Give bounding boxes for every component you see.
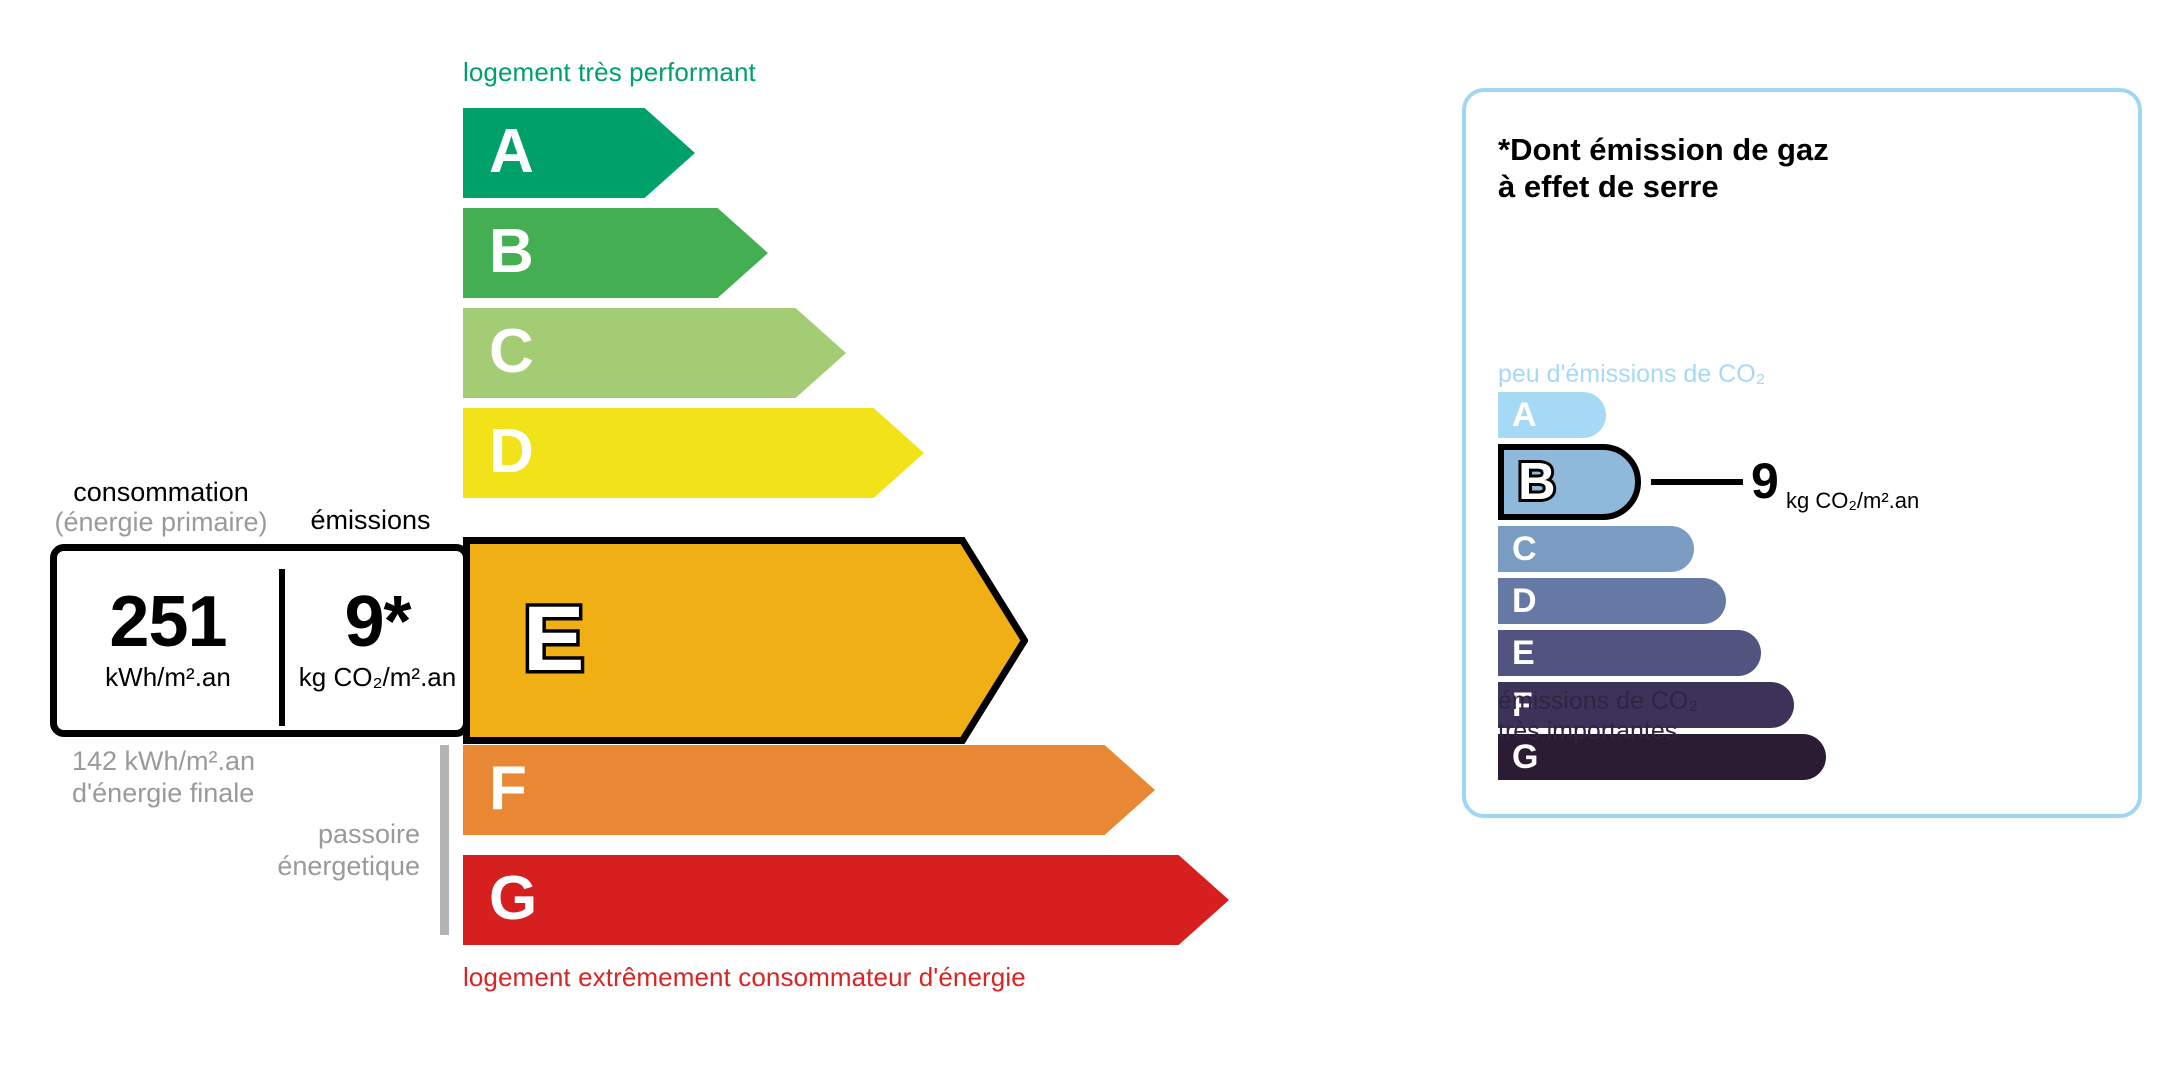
energy-class-c: C <box>463 308 846 398</box>
emission-value: 9* <box>344 588 410 656</box>
final-energy-line2: d'énergie finale <box>72 777 372 809</box>
energy-arrow-shape: B <box>463 208 768 298</box>
final-energy-line1: 142 kWh/m².an <box>72 745 372 777</box>
co2-class-letter: A <box>1512 398 1537 432</box>
energy-arrow-shape: F <box>463 745 1155 835</box>
energy-class-letter: D <box>489 421 534 483</box>
co2-bar-shape: B <box>1498 444 1641 520</box>
energy-bottom-caption: logement extrêmement consommateur d'éner… <box>463 962 1026 993</box>
energy-class-e: E <box>463 537 1028 744</box>
co2-bottom-caption: émissions de CO₂ très importantes <box>1498 686 1698 746</box>
passoire-line2: énergetique <box>250 850 420 882</box>
energy-class-f: F <box>463 745 1155 835</box>
co2-bar-shape: E <box>1498 630 1761 676</box>
energy-arrow-shape: E <box>463 537 1028 744</box>
emission-unit: kg CO₂/m².an <box>299 662 456 693</box>
energy-performance-panel: logement très performant ABCDEFG consomm… <box>0 0 1380 1079</box>
co2-bottom-line2: très importantes <box>1498 716 1698 746</box>
consumption-header: consommation (énergie primaire) <box>50 477 272 537</box>
passoire-energetique-note: passoire énergetique <box>250 818 420 883</box>
energy-arrow-shape: D <box>463 408 924 498</box>
co2-title-line1: *Dont émission de gaz <box>1498 132 1829 169</box>
co2-class-c: C <box>1498 526 1694 572</box>
co2-leader-line <box>1651 479 1743 485</box>
energy-class-g: G <box>463 855 1229 945</box>
co2-unit: kg CO₂/m².an <box>1786 488 1919 514</box>
co2-class-e: E <box>1498 630 1761 676</box>
co2-class-letter: B <box>1518 456 1556 508</box>
co2-top-caption: peu d'émissions de CO₂ <box>1498 360 1765 389</box>
co2-bar-shape: A <box>1498 392 1606 438</box>
final-energy-note: 142 kWh/m².an d'énergie finale <box>72 745 372 810</box>
consumption-value-cell: 251 kWh/m².an <box>57 551 279 730</box>
passoire-line1: passoire <box>250 818 420 850</box>
co2-class-a: A <box>1498 392 1606 438</box>
consumption-value: 251 <box>109 588 226 656</box>
co2-bottom-line1: émissions de CO₂ <box>1498 686 1698 716</box>
co2-class-letter: D <box>1512 584 1537 618</box>
vertical-divider <box>440 745 449 935</box>
energy-class-letter: E <box>523 593 584 685</box>
co2-panel-title: *Dont émission de gaz à effet de serre <box>1498 132 1829 205</box>
emission-value-cell: 9* kg CO₂/m².an <box>285 551 470 730</box>
co2-class-letter: E <box>1512 636 1535 670</box>
co2-class-b: B <box>1498 444 1641 520</box>
energy-top-caption: logement très performant <box>463 57 756 88</box>
co2-bar-shape: C <box>1498 526 1694 572</box>
energy-class-letter: A <box>489 121 534 183</box>
energy-arrow-shape: A <box>463 108 695 198</box>
energy-class-a: A <box>463 108 695 198</box>
energy-class-b: B <box>463 208 768 298</box>
co2-bar-shape: D <box>1498 578 1726 624</box>
energy-class-d: D <box>463 408 924 498</box>
emissions-header: émissions <box>278 505 463 535</box>
co2-title-line2: à effet de serre <box>1498 169 1829 206</box>
energy-class-letter: F <box>489 758 527 820</box>
consumption-header-line1: consommation <box>50 477 272 507</box>
co2-class-d: D <box>1498 578 1726 624</box>
energy-class-letter: B <box>489 221 534 283</box>
co2-class-letter: C <box>1512 532 1537 566</box>
energy-arrow-shape: C <box>463 308 846 398</box>
value-box: 251 kWh/m².an 9* kg CO₂/m².an <box>50 544 470 737</box>
consumption-unit: kWh/m².an <box>105 662 231 693</box>
co2-emission-panel: *Dont émission de gaz à effet de serre p… <box>1462 88 2142 818</box>
energy-class-letter: C <box>489 321 534 383</box>
energy-arrow-shape: G <box>463 855 1229 945</box>
co2-value: 9 <box>1751 456 1779 506</box>
consumption-header-line2: (énergie primaire) <box>50 507 272 537</box>
energy-class-letter: G <box>489 868 537 930</box>
